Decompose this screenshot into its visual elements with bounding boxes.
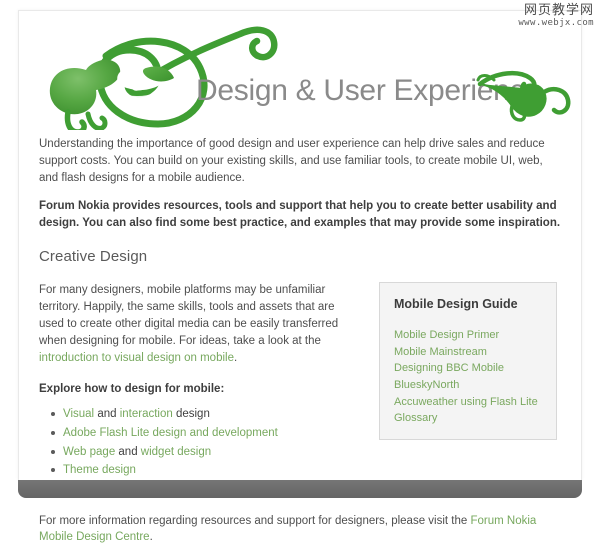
guide-list-item: Glossary: [394, 410, 544, 427]
guide-link[interactable]: Glossary: [394, 412, 437, 424]
left-column: For many designers, mobile platforms may…: [39, 282, 361, 499]
design-topic-text: design: [173, 408, 210, 420]
guide-link[interactable]: Designing BBC Mobile: [394, 362, 504, 374]
list-item: Adobe Flash Lite design and development: [63, 424, 361, 443]
guide-box-title: Mobile Design Guide: [394, 295, 544, 313]
guide-link[interactable]: BlueskyNorth: [394, 379, 459, 391]
list-item: Visual and interaction design: [63, 405, 361, 424]
creative-design-body-before: For many designers, mobile platforms may…: [39, 284, 338, 347]
two-column-region: For many designers, mobile platforms may…: [39, 282, 563, 499]
page-footer-bar: [18, 480, 582, 498]
design-topic-link[interactable]: widget design: [141, 446, 211, 458]
design-topic-text: and: [94, 408, 120, 420]
design-topic-link[interactable]: Visual: [63, 408, 94, 420]
design-topic-link[interactable]: Theme design: [63, 464, 136, 476]
list-item: Theme design: [63, 461, 361, 480]
design-topic-link[interactable]: Web page: [63, 446, 115, 458]
design-topic-link[interactable]: interaction: [120, 408, 173, 420]
footer-note-after: .: [150, 531, 153, 543]
guide-list-item: BlueskyNorth: [394, 377, 544, 394]
guide-list-item: Accuweather using Flash Lite: [394, 394, 544, 411]
page-frame: 网页教学网 www.webjx.com: [0, 0, 600, 508]
design-topic-link[interactable]: Adobe Flash Lite design and development: [63, 427, 278, 439]
lead-paragraph: Forum Nokia provides resources, tools an…: [39, 198, 563, 232]
list-item: Web page and widget design: [63, 443, 361, 462]
footer-note-before: For more information regarding resources…: [39, 515, 470, 527]
intro-paragraph: Understanding the importance of good des…: [39, 136, 563, 186]
guide-list-item: Designing BBC Mobile: [394, 360, 544, 377]
page-banner: Design & User Experience: [20, 12, 582, 130]
guide-link-list: Mobile Design PrimerMobile MainstreamDes…: [394, 327, 544, 427]
creative-design-body-after: .: [234, 352, 237, 364]
creative-design-body: For many designers, mobile platforms may…: [39, 282, 361, 367]
explore-label: Explore how to design for mobile:: [39, 381, 361, 398]
section-heading-creative-design: Creative Design: [39, 246, 563, 268]
guide-link[interactable]: Accuweather using Flash Lite: [394, 396, 538, 408]
guide-list-item: Mobile Mainstream: [394, 344, 544, 361]
guide-list-item: Mobile Design Primer: [394, 327, 544, 344]
link-introduction-to-visual-design[interactable]: introduction to visual design on mobile: [39, 352, 234, 364]
design-topic-text: and: [115, 446, 141, 458]
guide-link[interactable]: Mobile Design Primer: [394, 329, 499, 341]
mobile-design-guide-box: Mobile Design Guide Mobile Design Primer…: [379, 282, 557, 440]
content-card: Design & User Experience Understanding t…: [18, 10, 582, 480]
guide-link[interactable]: Mobile Mainstream: [394, 346, 487, 358]
footer-note: For more information regarding resources…: [39, 513, 563, 546]
